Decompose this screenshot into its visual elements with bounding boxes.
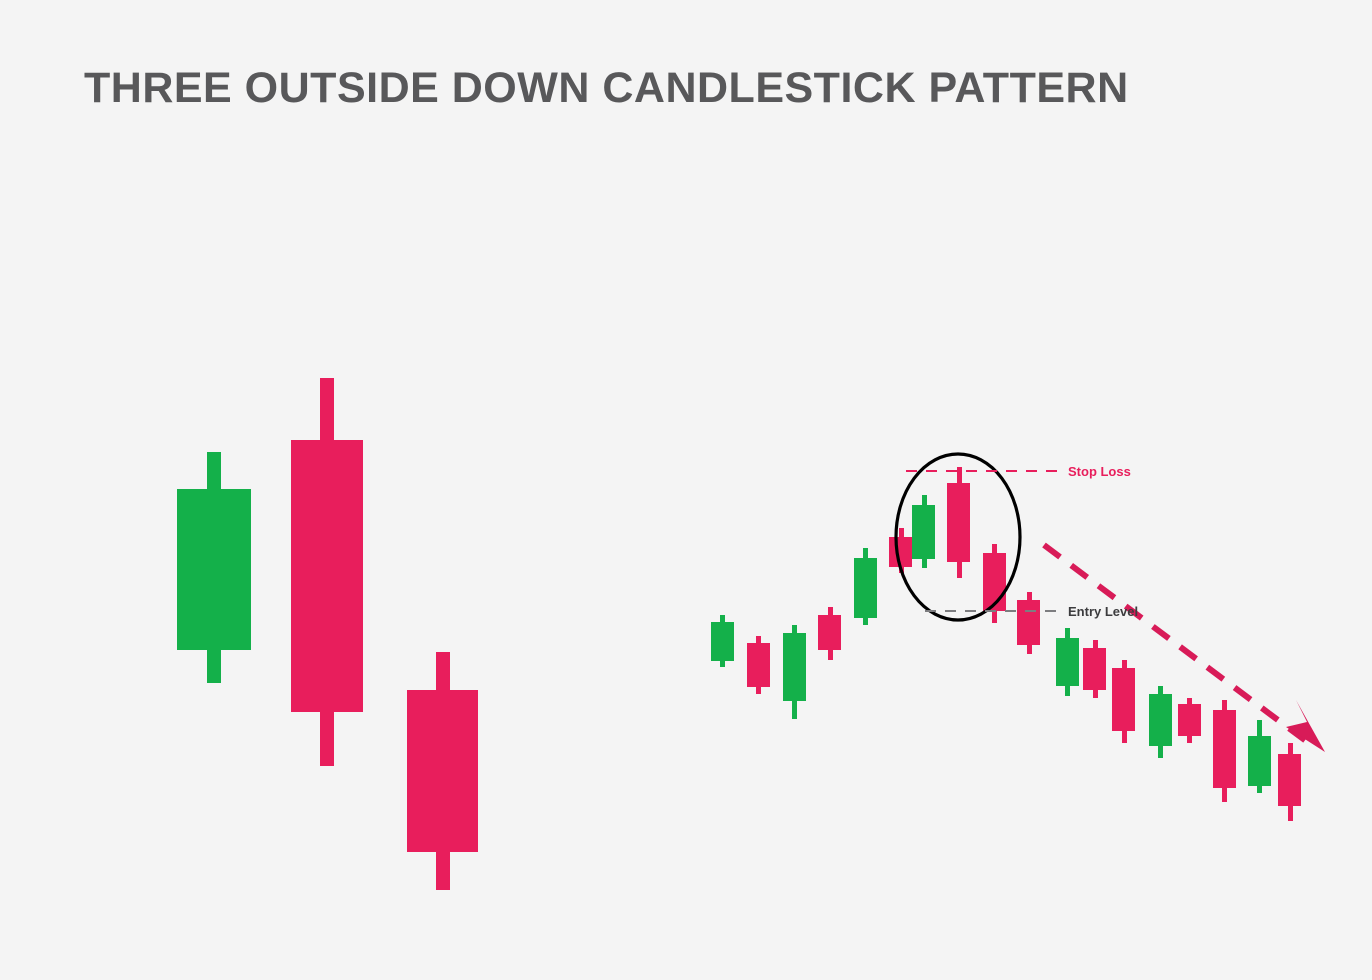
candle-body [1056, 638, 1079, 686]
candle-body [1213, 710, 1236, 788]
candle-body [291, 440, 363, 712]
context-candle-18[interactable] [1278, 743, 1301, 821]
pattern-context-chart [711, 454, 1325, 821]
candle-body [1149, 694, 1172, 746]
context-candle-10[interactable] [1017, 592, 1040, 654]
candle-body [1083, 648, 1106, 690]
context-candle-15[interactable] [1178, 698, 1201, 743]
candle-body [1278, 754, 1301, 806]
context-candle-17[interactable] [1248, 720, 1271, 793]
candle-body [1112, 668, 1135, 731]
context-candle-8[interactable] [947, 467, 970, 578]
downtrend-arrow-shaft [1044, 545, 1306, 741]
candle-body [889, 537, 912, 567]
candle-body [747, 643, 770, 687]
candle-body [1017, 600, 1040, 645]
candle-body [854, 558, 877, 618]
detail-candle-3[interactable] [407, 652, 478, 890]
context-candle-3[interactable] [783, 625, 806, 719]
context-candle-5[interactable] [854, 548, 877, 625]
candle-body [711, 622, 734, 661]
candle-body [1248, 736, 1271, 786]
context-candle-16[interactable] [1213, 700, 1236, 802]
entry-level-label: Entry Level [1068, 604, 1138, 619]
chart-canvas [0, 0, 1372, 980]
candle-body [947, 483, 970, 562]
stop-loss-label: Stop Loss [1068, 464, 1131, 479]
candle-body [912, 505, 935, 559]
detail-candle-2[interactable] [291, 378, 363, 766]
context-candle-12[interactable] [1083, 640, 1106, 698]
candle-body [818, 615, 841, 650]
infographic-root: THREE OUTSIDE DOWN CANDLESTICK PATTERN [0, 0, 1372, 980]
context-candle-14[interactable] [1149, 686, 1172, 758]
candle-body [1178, 704, 1201, 736]
pattern-detail-chart [177, 378, 478, 890]
detail-candle-1[interactable] [177, 452, 251, 683]
context-candle-11[interactable] [1056, 628, 1079, 696]
context-candle-2[interactable] [747, 636, 770, 694]
context-candle-7[interactable] [912, 495, 935, 568]
context-candle-13[interactable] [1112, 660, 1135, 743]
context-candle-1[interactable] [711, 615, 734, 667]
candle-body [783, 633, 806, 701]
candle-body [407, 690, 478, 852]
context-candle-4[interactable] [818, 607, 841, 660]
candle-body [177, 489, 251, 650]
